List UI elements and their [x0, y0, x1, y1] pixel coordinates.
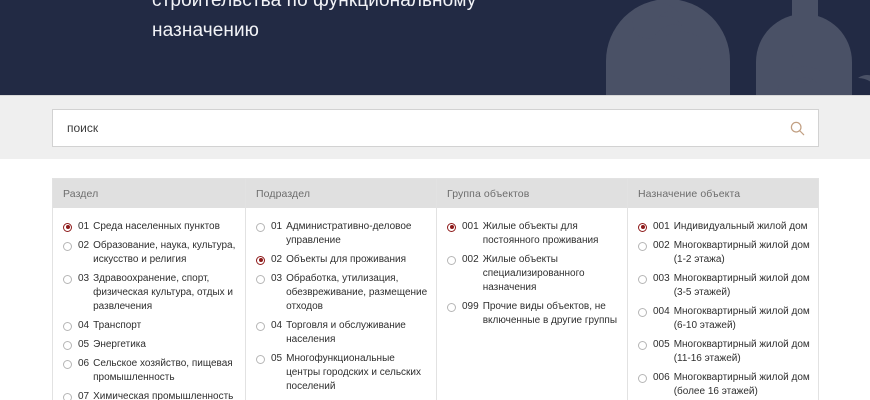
option-code: 001 — [653, 220, 670, 234]
option-code: 002 — [462, 253, 479, 267]
column-body-podrazdel: 01Административно-деловое управление02Об… — [246, 208, 436, 400]
column-body-razdel: 01Среда населенных пунктов02Образование,… — [53, 208, 245, 400]
option-code: 003 — [653, 272, 670, 286]
radio-button-icon[interactable] — [638, 341, 647, 350]
classifier-columns: Раздел01Среда населенных пунктов02Образо… — [52, 178, 819, 400]
option-label: Прочие виды объектов, не включенные в др… — [483, 300, 621, 328]
radio-option[interactable]: 004Многоквартирный жилой дом (6-10 этаже… — [636, 302, 812, 335]
radio-button-icon[interactable] — [63, 341, 72, 350]
option-label: Многоквартирный жилой дом (11-16 этажей) — [674, 338, 812, 366]
option-code: 02 — [271, 253, 282, 267]
radio-button-icon[interactable] — [638, 275, 647, 284]
column-body-naznachenie-obekta: 001Индивидуальный жилой дом002Многокварт… — [628, 208, 818, 400]
option-code: 07 — [78, 390, 89, 400]
radio-button-icon[interactable] — [638, 374, 647, 383]
option-code: 006 — [653, 371, 670, 385]
radio-option[interactable]: 099Прочие виды объектов, не включенные в… — [445, 297, 621, 330]
option-label: Объекты для проживания — [286, 253, 406, 267]
option-label: Обработка, утилизация, обезвреживание, р… — [286, 272, 430, 314]
option-code: 04 — [78, 319, 89, 333]
radio-button-icon[interactable] — [63, 322, 72, 331]
column-naznachenie-obekta: Назначение объекта001Индивидуальный жило… — [628, 179, 818, 400]
radio-option[interactable]: 06Вспомогательная инфраструктура отрасли — [254, 396, 430, 400]
radio-option[interactable]: 02Объекты для проживания — [254, 250, 430, 269]
radio-button-icon[interactable] — [256, 322, 265, 331]
option-label: Многоквартирный жилой дом (более 16 этаж… — [674, 371, 812, 399]
option-label: Многофункциональные центры городских и с… — [286, 352, 430, 394]
column-header-razdel: Раздел — [53, 179, 245, 208]
radio-button-icon[interactable] — [63, 393, 72, 400]
radio-button-icon[interactable] — [256, 275, 265, 284]
option-label: Энергетика — [93, 338, 146, 352]
option-label: Транспорт — [93, 319, 141, 333]
radio-button-icon[interactable] — [63, 360, 72, 369]
column-gruppa-obektov: Группа объектов001Жилые объекты для пост… — [437, 179, 628, 400]
radio-button-icon[interactable] — [447, 256, 456, 265]
radio-option[interactable]: 07Химическая промышленность — [61, 387, 239, 400]
option-code: 001 — [462, 220, 479, 234]
option-label: Здравоохранение, спорт, физическая культ… — [93, 272, 239, 314]
option-code: 01 — [78, 220, 89, 234]
radio-button-icon[interactable] — [638, 223, 647, 232]
option-label: Многоквартирный жилой дом (1-2 этажа) — [674, 239, 812, 267]
column-header-gruppa-obektov: Группа объектов — [437, 179, 627, 208]
page-title: строительства по функциональному назначе… — [152, 0, 592, 46]
option-label: Жилые объекты специализированного назнач… — [483, 253, 621, 295]
radio-option[interactable]: 002Жилые объекты специализированного наз… — [445, 250, 621, 297]
column-header-podrazdel: Подраздел — [246, 179, 436, 208]
column-podrazdel: Подраздел01Административно-деловое управ… — [246, 179, 437, 400]
radio-button-icon[interactable] — [63, 275, 72, 284]
radio-button-icon[interactable] — [63, 223, 72, 232]
radio-button-icon[interactable] — [638, 242, 647, 251]
option-label: Образование, наука, культура, искусство … — [93, 239, 239, 267]
radio-option[interactable]: 04Торговля и обслуживание населения — [254, 316, 430, 349]
radio-option[interactable]: 001Индивидуальный жилой дом — [636, 217, 812, 236]
radio-option[interactable]: 001Жилые объекты для постоянного прожива… — [445, 217, 621, 250]
option-code: 04 — [271, 319, 282, 333]
radio-option[interactable]: 03Здравоохранение, спорт, физическая кул… — [61, 269, 239, 316]
option-code: 002 — [653, 239, 670, 253]
option-code: 004 — [653, 305, 670, 319]
column-header-naznachenie-obekta: Назначение объекта — [628, 179, 818, 208]
radio-button-icon[interactable] — [256, 223, 265, 232]
option-code: 005 — [653, 338, 670, 352]
radio-option[interactable]: 05Многофункциональные центры городских и… — [254, 349, 430, 396]
option-code: 01 — [271, 220, 282, 234]
option-code: 02 — [78, 239, 89, 253]
search-icon[interactable] — [776, 110, 818, 146]
radio-button-icon[interactable] — [256, 355, 265, 364]
option-code: 03 — [78, 272, 89, 286]
radio-option[interactable]: 04Транспорт — [61, 316, 239, 335]
option-label: Административно-деловое управление — [286, 220, 430, 248]
option-code: 099 — [462, 300, 479, 314]
radio-option[interactable]: 003Многоквартирный жилой дом (3-5 этажей… — [636, 269, 812, 302]
radio-option[interactable]: 006Многоквартирный жилой дом (более 16 э… — [636, 368, 812, 400]
option-code: 06 — [78, 357, 89, 371]
search-band — [0, 95, 870, 159]
column-body-gruppa-obektov: 001Жилые объекты для постоянного прожива… — [437, 208, 627, 400]
option-label: Индивидуальный жилой дом — [674, 220, 808, 234]
column-razdel: Раздел01Среда населенных пунктов02Образо… — [53, 179, 246, 400]
classifier-panel-wrap: Раздел01Среда населенных пунктов02Образо… — [0, 159, 870, 400]
search-box[interactable] — [52, 109, 819, 147]
radio-option[interactable]: 005Многоквартирный жилой дом (11-16 этаж… — [636, 335, 812, 368]
option-label: Жилые объекты для постоянного проживания — [483, 220, 621, 248]
option-code: 05 — [78, 338, 89, 352]
radio-option[interactable]: 03Обработка, утилизация, обезвреживание,… — [254, 269, 430, 316]
radio-button-icon[interactable] — [256, 256, 265, 265]
option-code: 05 — [271, 352, 282, 366]
page-header: строительства по функциональному назначе… — [0, 0, 870, 95]
option-label: Торговля и обслуживание населения — [286, 319, 430, 347]
radio-button-icon[interactable] — [447, 223, 456, 232]
radio-button-icon[interactable] — [447, 303, 456, 312]
radio-option[interactable]: 01Среда населенных пунктов — [61, 217, 239, 236]
radio-option[interactable]: 002Многоквартирный жилой дом (1-2 этажа) — [636, 236, 812, 269]
option-label: Химическая промышленность — [93, 390, 233, 400]
radio-button-icon[interactable] — [638, 308, 647, 317]
option-label: Среда населенных пунктов — [93, 220, 220, 234]
radio-option[interactable]: 02Образование, наука, культура, искусств… — [61, 236, 239, 269]
search-input[interactable] — [53, 110, 776, 146]
option-label: Многоквартирный жилой дом (3-5 этажей) — [674, 272, 812, 300]
option-label: Многоквартирный жилой дом (6-10 этажей) — [674, 305, 812, 333]
option-label: Сельское хозяйство, пищевая промышленнос… — [93, 357, 239, 385]
coat-of-arms-emblem — [596, 0, 870, 95]
radio-option[interactable]: 01Административно-деловое управление — [254, 217, 430, 250]
radio-option[interactable]: 05Энергетика — [61, 335, 239, 354]
radio-button-icon[interactable] — [63, 242, 72, 251]
radio-option[interactable]: 06Сельское хозяйство, пищевая промышленн… — [61, 354, 239, 387]
option-code: 03 — [271, 272, 282, 286]
